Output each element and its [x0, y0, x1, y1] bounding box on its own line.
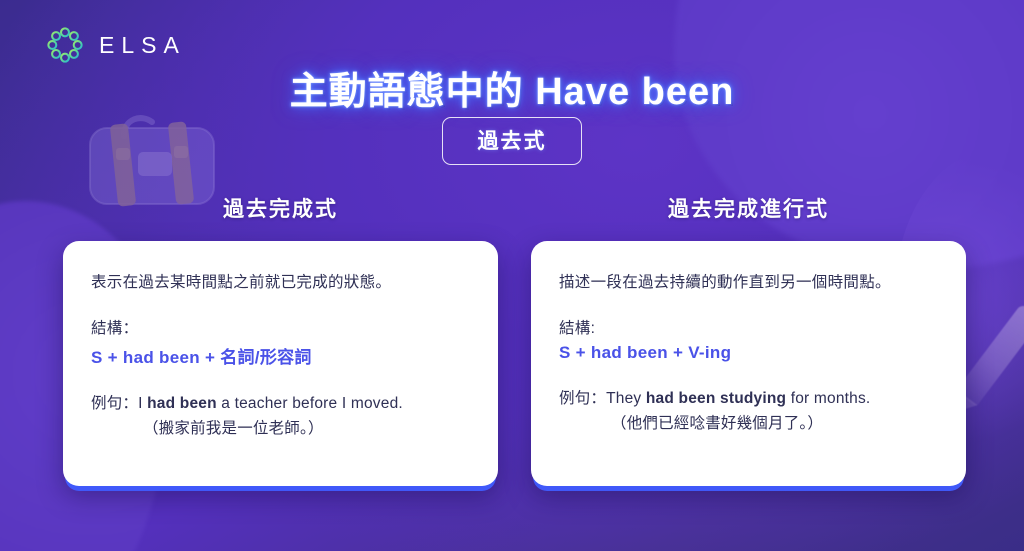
- example-prefix: I: [138, 395, 147, 412]
- info-card: 表示在過去某時間點之前就已完成的狀態。 結構： S + had been + 名…: [63, 241, 498, 486]
- card-description: 描述一段在過去持續的動作直到另一個時間點。: [559, 271, 938, 294]
- example-sentence: 例句：I had been a teacher before I moved. …: [91, 392, 470, 441]
- example-label: 例句：: [91, 395, 138, 412]
- example-prefix: They: [606, 390, 646, 407]
- example-suffix: for months.: [786, 390, 870, 407]
- tense-badge: 過去式: [442, 117, 582, 165]
- slide-canvas: ELSA 主動語態中的 Have been 過去式 過去完成式 表示在過去某時間…: [0, 0, 1024, 551]
- structure-formula: S + had been + 名詞/形容詞: [91, 343, 470, 368]
- info-card: 描述一段在過去持續的動作直到另一個時間點。 結構: S + had been +…: [531, 241, 966, 486]
- example-highlight: had been: [147, 395, 217, 412]
- structure-label: 結構:: [559, 318, 938, 340]
- example-sentence: 例句：They had been studying for months. （他…: [559, 387, 938, 436]
- brand-logo: ELSA: [46, 26, 186, 64]
- column-past-perfect: 過去完成式 表示在過去某時間點之前就已完成的狀態。 結構： S + had be…: [63, 193, 498, 486]
- column-heading: 過去完成式: [63, 193, 498, 223]
- column-past-perfect-continuous: 過去完成進行式 描述一段在過去持續的動作直到另一個時間點。 結構: S + ha…: [531, 193, 966, 486]
- elsa-star-flower-icon: [46, 26, 84, 64]
- card-description: 表示在過去某時間點之前就已完成的狀態。: [91, 271, 470, 294]
- column-heading: 過去完成進行式: [531, 193, 966, 223]
- example-highlight: had been studying: [646, 390, 786, 407]
- example-suffix: a teacher before I moved.: [217, 395, 403, 412]
- example-translation: （搬家前我是一位老師。）: [91, 417, 470, 440]
- structure-formula: S + had been + V-ing: [559, 343, 938, 363]
- example-translation: （他們已經唸書好幾個月了。）: [559, 412, 938, 435]
- structure-label: 結構：: [91, 318, 470, 340]
- example-label: 例句：: [559, 390, 606, 407]
- page-title: 主動語態中的 Have been: [0, 60, 1024, 115]
- brand-name: ELSA: [99, 32, 186, 59]
